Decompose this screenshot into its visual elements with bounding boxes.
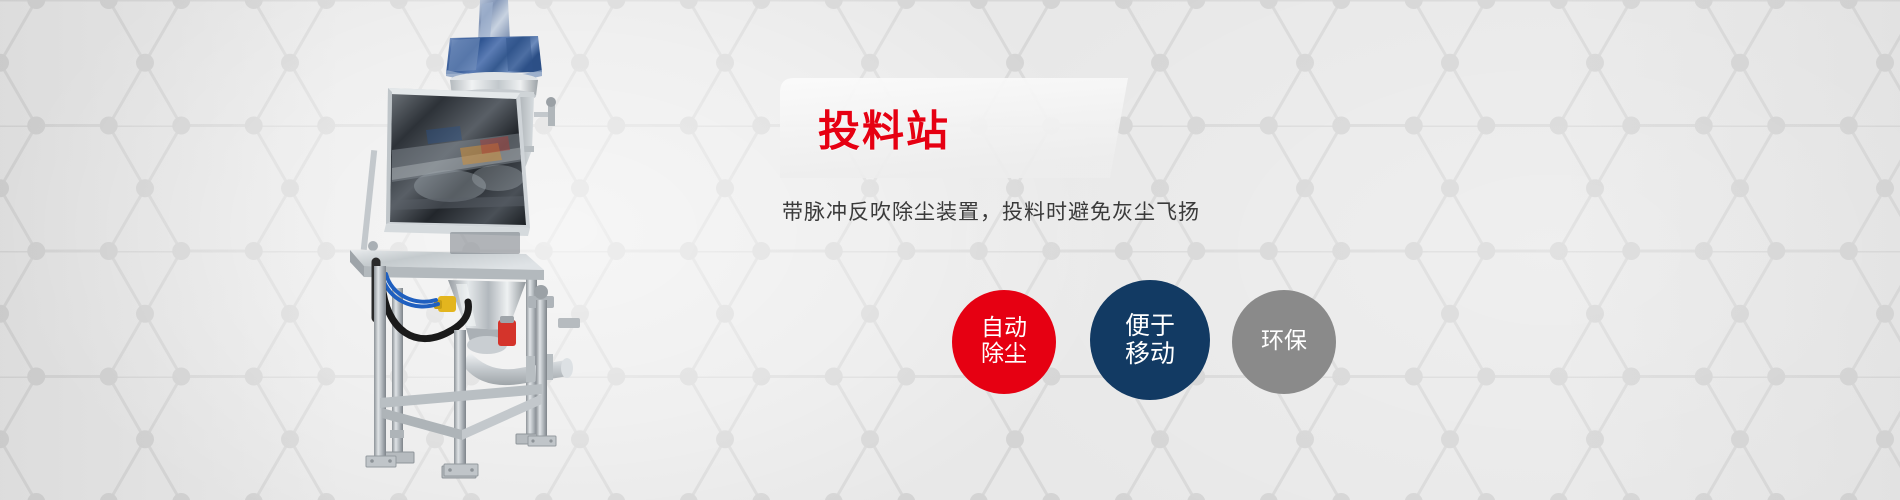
feature-badge-line1: 环保 (1261, 329, 1307, 355)
feature-badges: 自动 除尘 便于 移动 环保 (780, 288, 1420, 418)
feature-badge-eco-friendly[interactable]: 环保 (1232, 290, 1336, 394)
feature-badge-auto-dust-removal[interactable]: 自动 除尘 (952, 290, 1056, 394)
feature-badge-easy-to-move[interactable]: 便于 移动 (1090, 280, 1210, 400)
product-image-feeding-station (330, 0, 620, 500)
subtitle-text: 带脉冲反吹除尘装置，投料时避免灰尘飞扬 (782, 196, 1200, 226)
product-hero-banner: 投料站 带脉冲反吹除尘装置，投料时避免灰尘飞扬 自动 除尘 便于 移动 环保 (0, 0, 1900, 500)
page-title: 投料站 (818, 98, 950, 159)
feature-badge-line2: 移动 (1125, 340, 1175, 368)
feature-badge-line1: 便于 (1125, 312, 1175, 340)
title-plate: 投料站 (780, 78, 1128, 178)
feature-badge-line2: 除尘 (981, 342, 1027, 368)
feature-badge-line1: 自动 (981, 316, 1027, 342)
hero-content: 投料站 带脉冲反吹除尘装置，投料时避免灰尘飞扬 自动 除尘 便于 移动 环保 (780, 0, 1420, 500)
